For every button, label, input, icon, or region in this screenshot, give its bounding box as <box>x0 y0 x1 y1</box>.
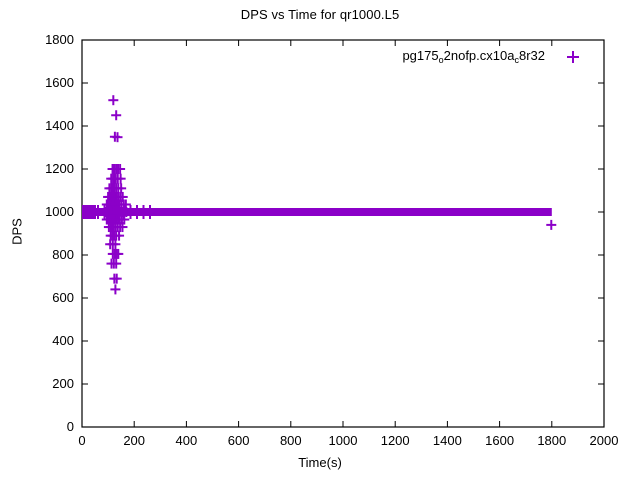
data-marker-group <box>82 95 556 294</box>
tick-marks <box>82 40 604 427</box>
plot-canvas <box>0 0 640 480</box>
legend-sample-marker <box>567 51 579 63</box>
plot-frame <box>82 40 604 427</box>
chart-container: DPS vs Time for qr1000.L5 pg175o2nofp.cx… <box>0 0 640 480</box>
